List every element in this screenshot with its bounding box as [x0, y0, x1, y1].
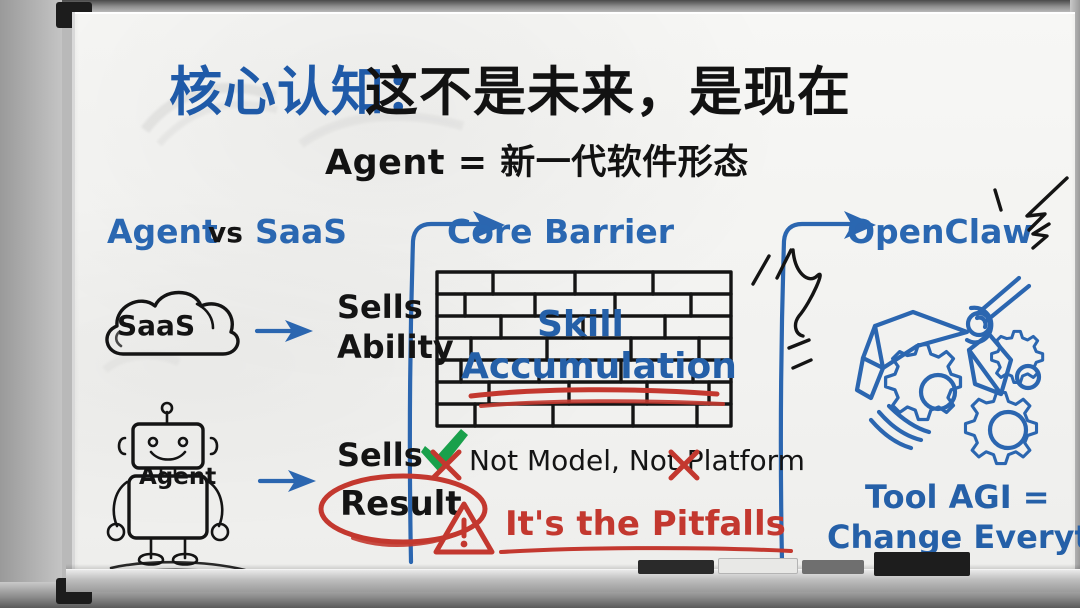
robot-claw-gears-icon	[843, 272, 1080, 462]
eraser-black[interactable]	[874, 552, 970, 576]
marker-black[interactable]	[638, 560, 714, 574]
burst-lines-icon	[747, 244, 837, 374]
agent-outcome-line-1: Sells	[337, 438, 423, 473]
page-subtitle: Agent = 新一代软件形态	[325, 134, 749, 185]
robot-label: Agent	[139, 464, 216, 490]
section-heading-agent: Agent	[107, 212, 218, 251]
warning-triangle-icon	[433, 500, 495, 558]
red-x-icon-strike	[667, 448, 701, 482]
marker-tray	[66, 569, 1080, 592]
board-frame-left	[0, 0, 62, 608]
section-heading-vs: vs	[208, 216, 243, 249]
lightning-spark-icon	[987, 174, 1073, 244]
saas-outcome-line-1: Sells	[337, 290, 423, 325]
section-heading-core-barrier: Core Barrier	[447, 212, 674, 251]
arrow-saas-to-sells	[255, 317, 325, 345]
whiteboard-photo: 核心认知： 这不是未来，是现在 Agent = 新一代软件形态 Agent vs…	[0, 0, 1080, 608]
red-x-icon	[429, 448, 463, 482]
cloud-label: SaaS	[117, 309, 195, 342]
whiteboard-surface: 核心认知： 这不是未来，是现在 Agent = 新一代软件形态 Agent vs…	[72, 12, 1075, 580]
marker-gray[interactable]	[802, 560, 864, 574]
red-underline-pitfalls	[499, 546, 799, 558]
wall-label-line-2: Accumulation	[461, 346, 737, 387]
page-title-black: 这不是未来，是现在	[365, 50, 851, 126]
note-not-model-platform: Not Model, Not Platform	[469, 446, 805, 476]
marker-white[interactable]	[718, 558, 798, 574]
openclaw-caption-line-1: Tool AGI =	[865, 478, 1050, 516]
red-underline-skill	[467, 386, 727, 412]
wall-label-line-1: Skill	[537, 304, 624, 345]
openclaw-caption-line-2: Change Everything	[827, 518, 1080, 556]
section-heading-saas: SaaS	[255, 212, 347, 251]
note-pitfalls: It's the Pitfalls	[505, 504, 786, 544]
